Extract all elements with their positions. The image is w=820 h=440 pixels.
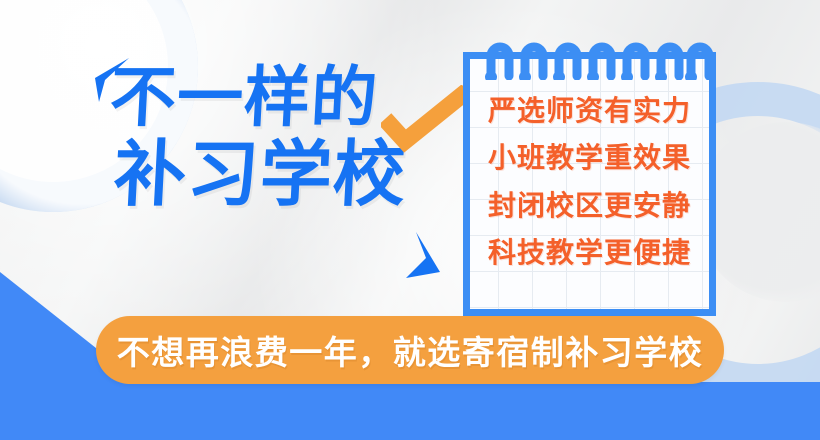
list-item: 封闭校区更安静	[488, 185, 691, 226]
headline: 不一样的 补习学校	[110, 66, 460, 210]
notepad-feature-list: 严选师资有实力 小班教学重效果 封闭校区更安静 科技教学更便捷	[470, 90, 709, 274]
list-item: 严选师资有实力	[488, 90, 691, 131]
list-item: 小班教学重效果	[488, 137, 691, 178]
headline-line-1: 不一样的	[108, 66, 461, 129]
list-item: 科技教学更便捷	[488, 232, 691, 273]
cta-pill-text: 不想再浪费一年，就选寄宿制补习学校	[117, 326, 704, 374]
promo-banner: 不一样的 补习学校	[0, 0, 820, 440]
notepad: 严选师资有实力 小班教学重效果 封闭校区更安静 科技教学更便捷	[463, 52, 716, 316]
cta-pill-banner[interactable]: 不想再浪费一年，就选寄宿制补习学校	[96, 316, 724, 384]
headline-line-2: 补习学校	[112, 141, 462, 210]
blue-bottom-bar	[0, 382, 820, 440]
notepad-spiral-binding-icon	[463, 34, 716, 80]
quote-close-triangle-icon	[406, 232, 442, 278]
